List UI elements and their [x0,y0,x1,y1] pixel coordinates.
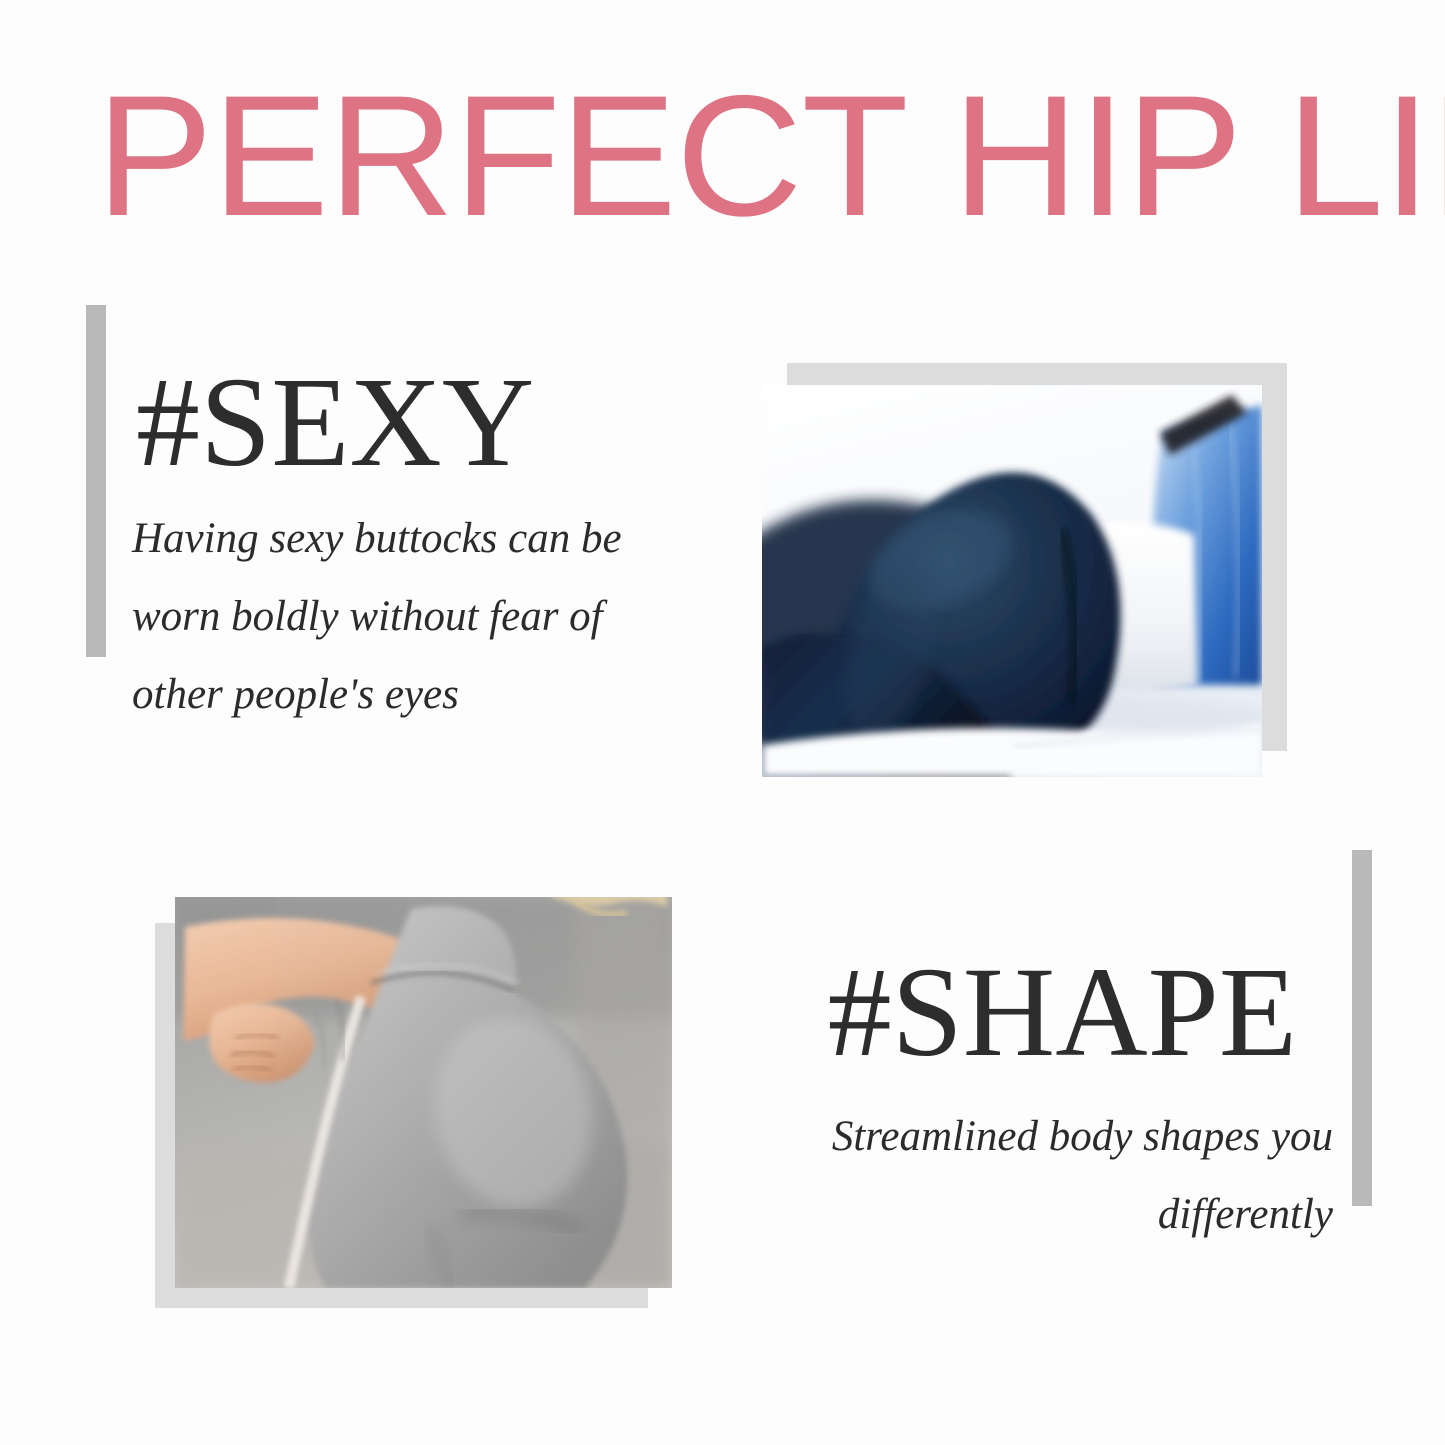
photo-grey-leggings [175,897,672,1288]
body-copy-sexy: Having sexy buttocks can be worn boldly … [132,500,652,734]
hashtag-sexy: #SEXY [136,362,534,482]
photo-navy-leggings [762,385,1262,777]
accent-rule-left [86,305,106,657]
accent-rule-right [1352,850,1372,1206]
poster-canvas: PERFECT HIP LINE #SEXY Having sexy butto… [0,0,1445,1445]
body-copy-shape: Streamlined body shapes you differently [773,1098,1333,1254]
hashtag-shape: #SHAPE [828,952,1297,1072]
page-title: PERFECT HIP LINE [96,72,1391,240]
